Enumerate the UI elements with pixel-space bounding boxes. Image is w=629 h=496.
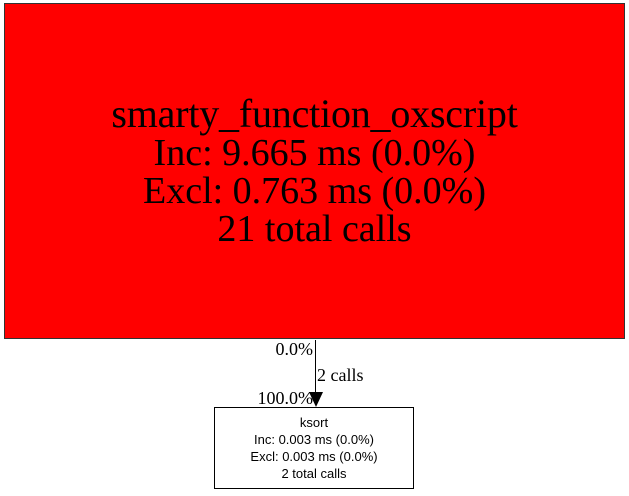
node-total-calls: 2 total calls <box>281 465 346 482</box>
graph-node-smarty-function-oxscript[interactable]: smarty_function_oxscript Inc: 9.665 ms (… <box>4 3 625 339</box>
node-total-calls: 21 total calls <box>217 210 411 248</box>
edge-line-oxscript-to-ksort <box>315 340 316 393</box>
edge-target-percent-label: 100.0% <box>258 389 314 407</box>
node-exclusive-time: Excl: 0.763 ms (0.0%) <box>143 172 486 210</box>
node-function-name: smarty_function_oxscript <box>111 94 517 134</box>
graph-node-ksort[interactable]: ksort Inc: 0.003 ms (0.0%) Excl: 0.003 m… <box>214 407 414 489</box>
edge-call-count-label: 2 calls <box>317 366 364 384</box>
node-function-name: ksort <box>300 414 328 431</box>
edge-source-percent-label: 0.0% <box>276 340 314 358</box>
node-exclusive-time: Excl: 0.003 ms (0.0%) <box>250 448 377 465</box>
node-inclusive-time: Inc: 0.003 ms (0.0%) <box>254 431 374 448</box>
node-inclusive-time: Inc: 9.665 ms (0.0%) <box>154 134 476 172</box>
call-graph-canvas: smarty_function_oxscript Inc: 9.665 ms (… <box>0 0 629 496</box>
